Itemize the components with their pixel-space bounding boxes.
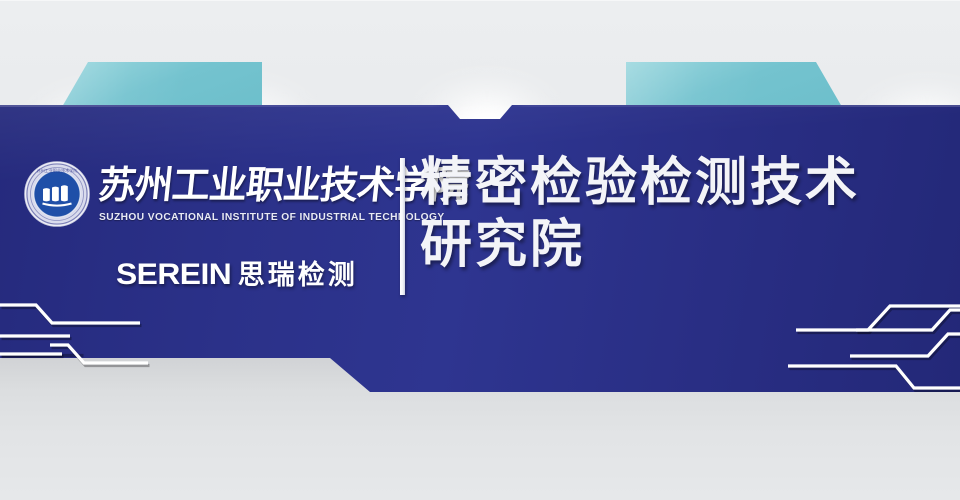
serein-name-cn: 思瑞检测	[238, 253, 358, 292]
headline-line-1: 精密检验检测技术	[420, 154, 860, 212]
floor	[0, 392, 960, 500]
teal-trapezoid-right	[626, 62, 842, 107]
svg-text:苏州工业职业技术学院: 苏州工业职业技术学院	[37, 167, 78, 173]
suzhou-vocational-institute-emblem: 苏州工业职业技术学院	[24, 161, 90, 227]
serein-wordmark: SEREIN	[116, 258, 231, 292]
wall-seam-top	[0, 0, 960, 1]
teal-trapezoid-left	[62, 62, 262, 107]
floor-left-wedge	[0, 353, 372, 395]
serein-brand-lockup: SEREIN 思瑞检测	[116, 253, 358, 292]
signage-scene: 苏州工业职业技术学院 苏州工业职业技术学院 SUZHOU VOCATIONAL …	[0, 0, 960, 500]
headline-line-2: 研究院	[420, 214, 950, 276]
school-name-cn: 苏州工业职业技术学院	[95, 161, 396, 213]
school-logo-lockup: 苏州工业职业技术学院 苏州工业职业技术学院 SUZHOU VOCATIONAL …	[18, 155, 396, 303]
vertical-white-divider	[400, 158, 405, 295]
school-name-en: SUZHOU VOCATIONAL INSTITUTE OF INDUSTRIA…	[99, 212, 399, 223]
page-title: 精密检验检测技术 研究院	[420, 152, 950, 276]
